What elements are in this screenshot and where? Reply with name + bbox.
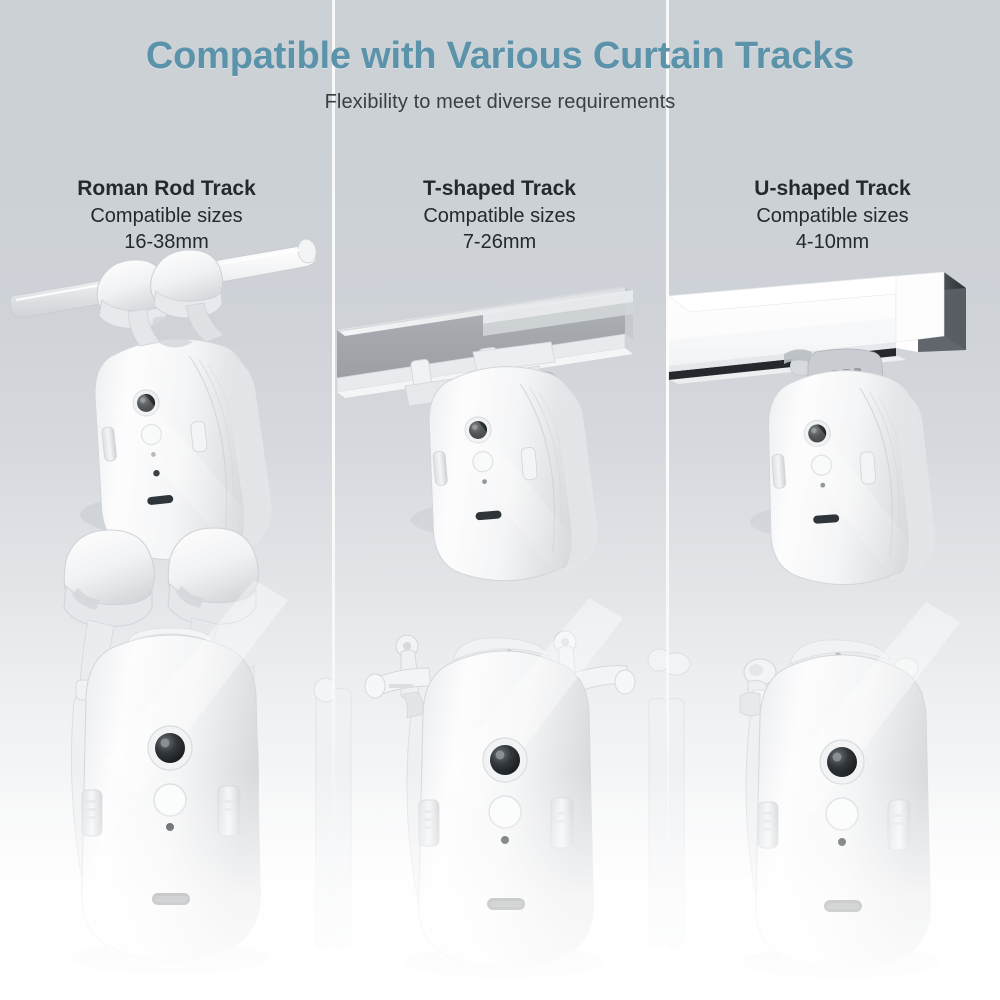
- left-side-grip: [433, 451, 448, 486]
- sizes-label-u-shaped: Compatible sizes: [676, 203, 989, 229]
- sizes-label-t-shaped: Compatible sizes: [343, 203, 656, 229]
- roman-rod-illustration: [0, 0, 334, 1000]
- left-side-grip-front: [419, 800, 439, 846]
- sensor-lens-front: [155, 733, 185, 763]
- caption-u-shaped: U-shaped Track Compatible sizes 4-10mm: [666, 175, 999, 256]
- right-side-grip: [860, 452, 876, 485]
- adjacent-device-edge: [666, 653, 690, 948]
- column-artwork-roman-rod: [0, 0, 334, 1000]
- artwork-stage: [0, 0, 1000, 1000]
- t-track-top-scene: [337, 286, 633, 587]
- power-button-front[interactable]: [154, 784, 186, 816]
- t-track-illustration: [333, 0, 667, 1000]
- left-side-grip-front: [82, 790, 102, 836]
- t-track-bottom-scene: [333, 598, 667, 978]
- column-artwork-t-shaped: [333, 0, 667, 1000]
- status-led-front: [838, 838, 846, 846]
- status-led-front: [166, 823, 174, 831]
- left-side-grip: [772, 454, 786, 489]
- size-range-t-shaped: 7-26mm: [343, 229, 656, 255]
- track-name-roman-rod: Roman Rod Track: [10, 175, 323, 203]
- track-captions: Roman Rod Track Compatible sizes 16-38mm…: [0, 175, 1000, 256]
- size-range-roman-rod: 16-38mm: [10, 229, 323, 255]
- page-subtitle: Flexibility to meet diverse requirements: [0, 91, 1000, 114]
- caption-t-shaped: T-shaped Track Compatible sizes 7-26mm: [333, 175, 666, 256]
- column-divider-2: [666, 0, 669, 1000]
- column-artwork-u-shaped: [666, 0, 1000, 1000]
- u-track-top-scene: [668, 272, 966, 590]
- page-title: Compatible with Various Curtain Tracks: [0, 36, 1000, 78]
- right-side-grip: [521, 447, 538, 480]
- track-name-t-shaped: T-shaped Track: [343, 175, 656, 203]
- roman-rod-top-scene: [10, 238, 318, 569]
- u-track-bottom-scene: [666, 602, 960, 978]
- power-button-front[interactable]: [489, 796, 521, 828]
- u-track-illustration: [666, 0, 1000, 1000]
- roman-rod-bottom-scene: [64, 528, 334, 974]
- product-feature-image: Compatible with Various Curtain Tracks F…: [0, 0, 1000, 1000]
- left-side-grip-front: [758, 802, 778, 848]
- column-divider-1: [332, 0, 335, 1000]
- right-side-grip: [190, 421, 207, 452]
- power-button-front[interactable]: [826, 798, 858, 830]
- adjacent-device-edge: [314, 678, 334, 948]
- track-name-u-shaped: U-shaped Track: [676, 175, 989, 203]
- sensor-lens-front: [490, 745, 520, 775]
- sensor-lens-front: [827, 747, 857, 777]
- caption-roman-rod: Roman Rod Track Compatible sizes 16-38mm: [0, 175, 333, 256]
- status-led-front: [501, 836, 509, 844]
- sizes-label-roman-rod: Compatible sizes: [10, 203, 323, 229]
- size-range-u-shaped: 4-10mm: [676, 229, 989, 255]
- header: Compatible with Various Curtain Tracks F…: [0, 0, 1000, 114]
